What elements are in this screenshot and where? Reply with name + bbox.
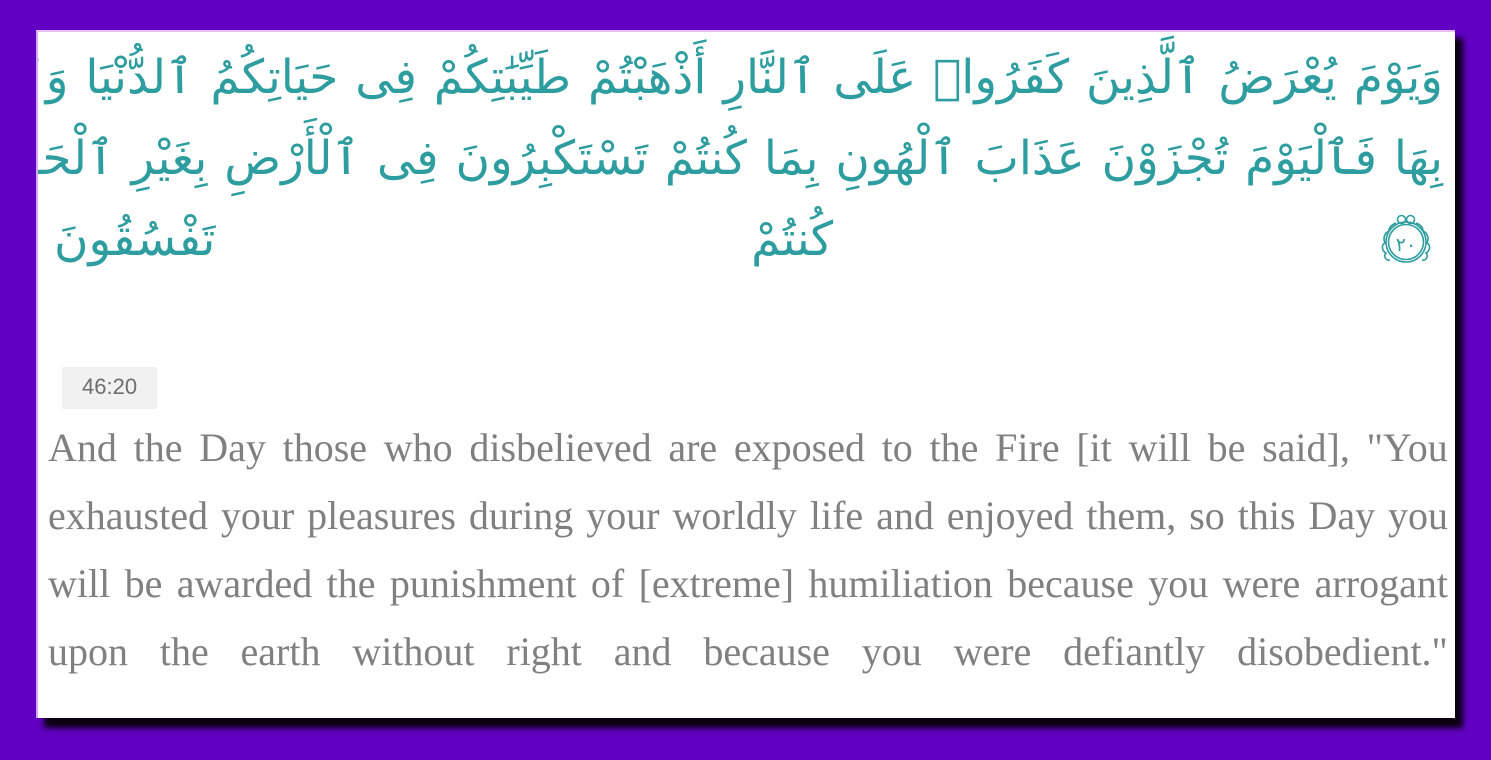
verse-card: وَيَوْمَ يُعْرَضُ ٱلَّذِينَ كَفَرُوا۟ عَ…: [36, 30, 1455, 718]
translation-word: of: [591, 550, 624, 618]
translation-word: humiliation: [808, 550, 992, 618]
translation-word: disobedient.": [1237, 618, 1448, 686]
translation-word: be: [1208, 414, 1246, 482]
translation-word: your: [586, 482, 659, 550]
translation-word: because: [703, 618, 830, 686]
translation-word: awarded: [177, 550, 312, 618]
ayah-end-marker-icon: ٢٠: [1377, 211, 1435, 269]
translation-word: Day: [199, 414, 266, 482]
translation-word: the: [134, 414, 183, 482]
translation-line-3: willbeawardedthepunishmentof[extreme]hum…: [48, 550, 1448, 618]
arabic-line-3-text: كُنتُمْ تَفْسُقُونَ: [54, 212, 833, 267]
translation-word: And: [48, 414, 117, 482]
translation-word: who: [384, 414, 453, 482]
translation-word: them,: [1086, 482, 1176, 550]
translation-word: worldly: [672, 482, 796, 550]
translation-word: without: [352, 618, 474, 686]
translation-word: "You: [1367, 414, 1448, 482]
translation-word: exhausted: [48, 482, 208, 550]
translation-word: the: [160, 618, 209, 686]
translation-word: earth: [241, 618, 321, 686]
translation-word: because: [1007, 550, 1134, 618]
translation-word: enjoyed: [947, 482, 1074, 550]
arabic-line-3-with-marker: ٢٠ كُنتُمْ تَفْسُقُونَ: [54, 200, 1443, 281]
translation-word: those: [283, 414, 367, 482]
translation-word: [it: [1076, 414, 1112, 482]
arabic-verse-block: وَيَوْمَ يُعْرَضُ ٱلَّذِينَ كَفَرُوا۟ عَ…: [38, 32, 1455, 280]
translation-word: were: [954, 618, 1032, 686]
english-translation: AndtheDaythosewhodisbelievedareexposedto…: [48, 414, 1448, 686]
translation-word: be: [125, 550, 163, 618]
arabic-line-2: بِهَا فَٱلْيَوْمَ تُجْزَوْنَ عَذَابَ ٱلْ…: [54, 119, 1443, 200]
translation-word: the: [930, 414, 979, 482]
translation-word: right: [506, 618, 582, 686]
translation-word: [extreme]: [639, 550, 794, 618]
translation-word: you: [1148, 550, 1208, 618]
ayah-number-text: ٢٠: [1396, 234, 1416, 256]
translation-word: this: [1238, 482, 1296, 550]
translation-line-1: AndtheDaythosewhodisbelievedareexposedto…: [48, 414, 1448, 482]
translation-word: Day: [1308, 482, 1375, 550]
translation-word: you: [862, 618, 922, 686]
translation-word: defiantly: [1063, 618, 1205, 686]
translation-word: to: [882, 414, 913, 482]
translation-word: Fire: [995, 414, 1059, 482]
arabic-line-1: وَيَوْمَ يُعْرَضُ ٱلَّذِينَ كَفَرُوا۟ عَ…: [54, 38, 1443, 119]
translation-line-4: upontheearthwithoutrightandbecauseyouwer…: [48, 618, 1448, 686]
translation-word: are: [668, 414, 717, 482]
verse-reference-badge[interactable]: 46:20: [62, 367, 157, 409]
purple-frame: وَيَوْمَ يُعْرَضُ ٱلَّذِينَ كَفَرُوا۟ عَ…: [0, 0, 1491, 760]
translation-word: life: [810, 482, 863, 550]
translation-word: disbelieved: [469, 414, 651, 482]
translation-word: and: [876, 482, 934, 550]
translation-word: so: [1189, 482, 1225, 550]
translation-word: will: [1129, 414, 1191, 482]
translation-word: pleasures: [307, 482, 456, 550]
translation-word: and: [614, 618, 672, 686]
translation-word: upon: [48, 618, 128, 686]
translation-word: said],: [1262, 414, 1350, 482]
translation-word: were: [1223, 550, 1301, 618]
translation-word: arrogant: [1315, 550, 1448, 618]
translation-word: your: [221, 482, 294, 550]
translation-line-2: exhaustedyourpleasuresduringyourworldlyl…: [48, 482, 1448, 550]
translation-word: punishment: [390, 550, 577, 618]
translation-word: the: [327, 550, 376, 618]
translation-word: will: [48, 550, 110, 618]
translation-word: you: [1388, 482, 1448, 550]
translation-word: exposed: [734, 414, 865, 482]
translation-word: during: [469, 482, 573, 550]
